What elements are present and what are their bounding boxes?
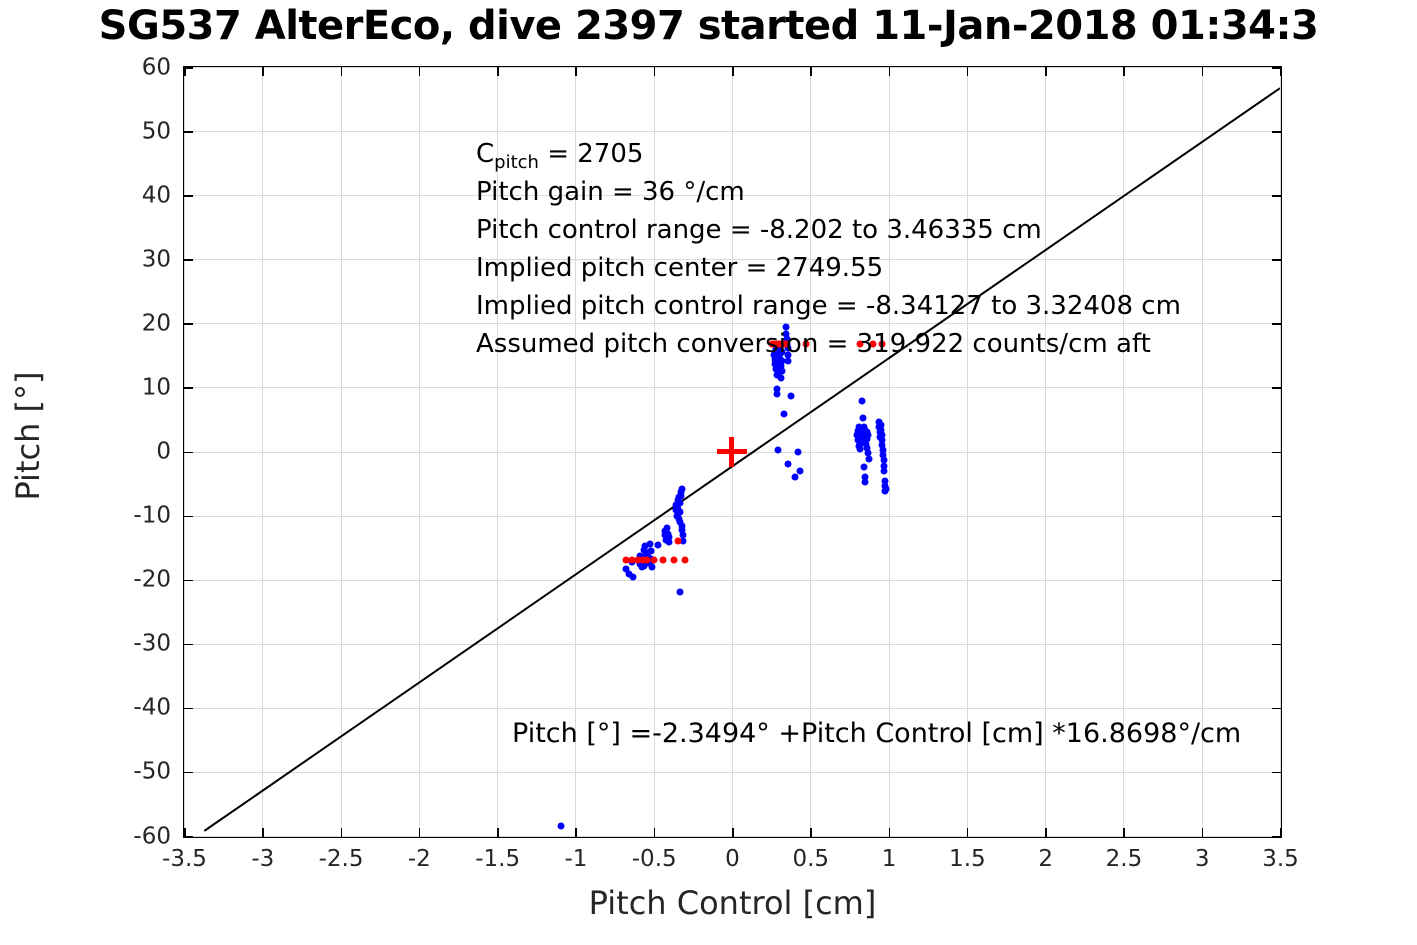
y-tick-label: 30 <box>91 248 171 271</box>
x-tick-label: 1.5 <box>949 848 986 871</box>
limit-point <box>783 341 790 348</box>
data-point <box>797 467 804 474</box>
data-point <box>647 548 654 555</box>
data-point <box>882 486 889 493</box>
data-point <box>864 432 871 439</box>
y-tick-label: 10 <box>91 376 171 399</box>
y-tick-label: 60 <box>91 56 171 79</box>
limit-point <box>650 557 657 564</box>
data-point <box>775 447 782 454</box>
x-tick-label: 0 <box>725 848 740 871</box>
x-tick-label: 2.5 <box>1106 848 1143 871</box>
data-point <box>865 455 872 462</box>
pitch-center-cross-marker <box>717 437 747 467</box>
data-point <box>676 508 683 515</box>
y-tick-label: 0 <box>91 441 171 464</box>
data-point <box>794 449 801 456</box>
data-point <box>649 564 656 571</box>
data-point <box>677 589 684 596</box>
x-tick-label: 0.5 <box>792 848 829 871</box>
limit-point <box>671 557 678 564</box>
y-tick-label: -30 <box>91 633 171 656</box>
y-tick-label: -20 <box>91 569 171 592</box>
data-point <box>783 324 790 331</box>
x-tick-label: 2 <box>1038 848 1053 871</box>
y-tick-label: -50 <box>91 761 171 784</box>
y-tick-label: -10 <box>91 505 171 528</box>
x-tick-label: -3 <box>251 848 274 871</box>
limit-point <box>674 537 681 544</box>
x-axis-label: Pitch Control [cm] <box>183 884 1282 922</box>
chart-title: SG537 AlterEco, dive 2397 started 11-Jan… <box>0 2 1417 50</box>
x-tick-label: -1.5 <box>475 848 520 871</box>
data-point <box>778 374 785 381</box>
data-point <box>858 397 865 404</box>
y-tick-label: 50 <box>91 120 171 143</box>
x-tick-label: 1 <box>882 848 897 871</box>
data-point <box>774 391 781 398</box>
limit-point <box>660 557 667 564</box>
y-axis-tick <box>1272 836 1281 838</box>
data-point <box>788 393 795 400</box>
data-point <box>862 479 869 486</box>
data-point <box>558 823 565 830</box>
data-point <box>785 461 792 468</box>
x-tick-label: -3.5 <box>162 848 207 871</box>
data-point <box>655 542 662 549</box>
data-point <box>678 485 685 492</box>
plot-area: Cpitch = 2705 Pitch gain = 36 °/cm Pitch… <box>183 66 1282 838</box>
data-point <box>666 534 673 541</box>
data-point <box>861 463 868 470</box>
data-point <box>778 367 785 374</box>
x-tick-label: -1 <box>564 848 587 871</box>
x-tick-label: -0.5 <box>632 848 677 871</box>
data-point <box>859 415 866 422</box>
y-tick-label: -60 <box>91 825 171 848</box>
data-point <box>630 574 637 581</box>
y-tick-label: -40 <box>91 697 171 720</box>
limit-point <box>869 341 876 348</box>
x-tick-label: -2.5 <box>319 848 364 871</box>
x-tick-label: -2 <box>408 848 431 871</box>
cross-vertical-bar <box>729 437 734 467</box>
limit-point <box>802 341 809 348</box>
data-point <box>785 357 792 364</box>
x-tick-label: 3 <box>1195 848 1210 871</box>
data-point <box>881 467 888 474</box>
limit-point <box>857 341 864 348</box>
data-point <box>791 474 798 481</box>
y-tick-label: 20 <box>91 312 171 335</box>
y-axis-label: Pitch [°] <box>9 236 47 636</box>
limit-point <box>879 341 886 348</box>
y-tick-label: 40 <box>91 184 171 207</box>
data-point <box>678 492 685 499</box>
y-axis-tick <box>184 836 193 838</box>
data-point <box>646 540 653 547</box>
data-point <box>780 411 787 418</box>
x-tick-label: 3.5 <box>1262 848 1299 871</box>
data-point <box>677 500 684 507</box>
limit-point <box>682 557 689 564</box>
